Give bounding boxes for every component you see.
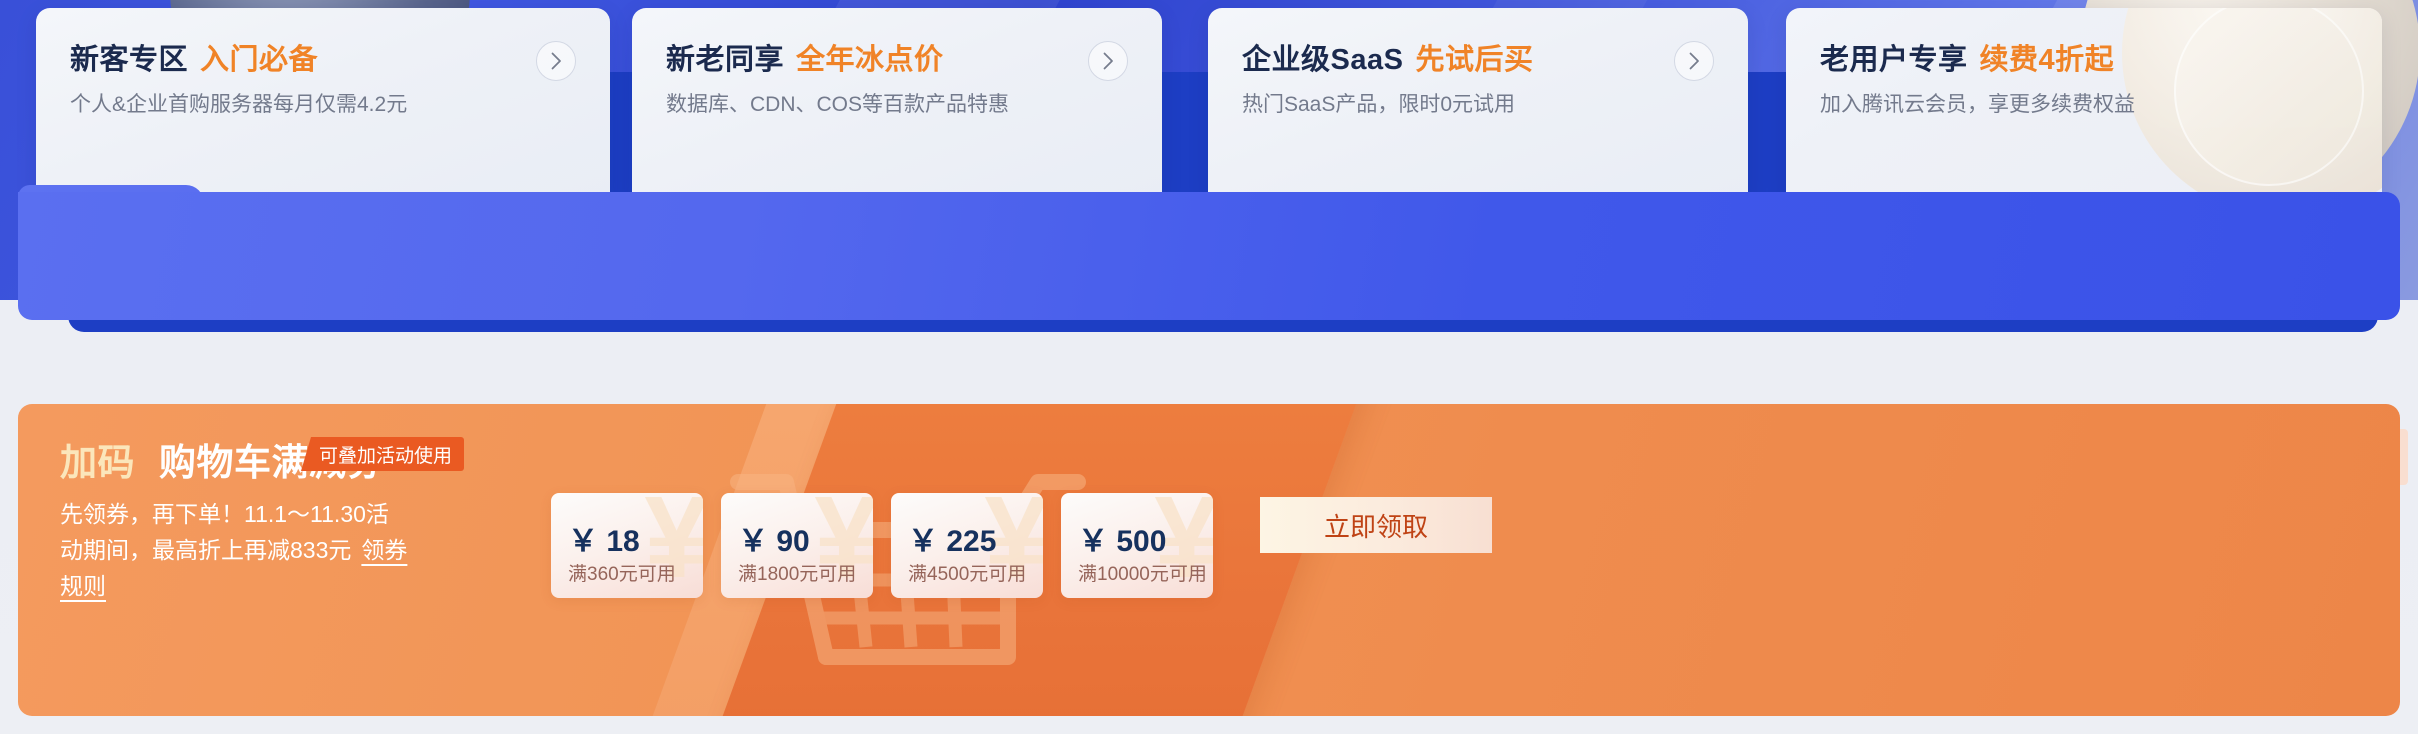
promo-card-row: 新客专区入门必备 个人&企业首购服务器每月仅需4.2元 新老同享全年冰点价 数据…: [0, 0, 2418, 200]
promo-card-highlight: 续费4折起: [1980, 44, 2115, 76]
promo-card-title: 新客专区入门必备: [70, 36, 318, 78]
promo-card-title: 老用户专享续费4折起: [1820, 36, 2114, 78]
promo-card-highlight: 入门必备: [200, 44, 318, 76]
coupon-amount: ￥ 500: [1078, 516, 1166, 560]
headline-gold: 加码: [60, 442, 135, 483]
chevron-right-icon[interactable]: [1674, 41, 1714, 81]
promo-card-highlight: 先试后买: [1415, 44, 1533, 76]
promo-card-title: 企业级SaaS先试后买: [1242, 36, 1533, 78]
coupon-amount: ￥ 90: [738, 516, 810, 560]
promo-card-subtitle: 加入腾讯云会员，享更多续费权益: [1820, 88, 2135, 118]
coupon-condition: 满10000元可用: [1078, 559, 1207, 586]
claim-button-label: 立即领取: [1324, 507, 1428, 544]
promo-card-all-users[interactable]: 新老同享全年冰点价 数据库、CDN、COS等百款产品特惠: [632, 8, 1162, 198]
claim-coupon-button[interactable]: 立即领取: [1260, 497, 1492, 553]
promo-card-highlight: 全年冰点价: [796, 44, 944, 76]
promo-card-new-customer[interactable]: 新客专区入门必备 个人&企业首购服务器每月仅需4.2元: [36, 8, 610, 198]
coupon-amount: ￥ 18: [568, 516, 640, 560]
chevron-right-icon[interactable]: [536, 41, 576, 81]
coupon-condition: 满1800元可用: [738, 559, 856, 586]
decorative-ring: [2122, 8, 2382, 198]
coupon-card[interactable]: ¥ ￥ 500 满10000元可用: [1061, 493, 1213, 598]
double-eleven-banner[interactable]: 玩转11.11 领 11111元 代金券大礼包，购后抽奖 100%中奖 ，开团冲…: [18, 192, 2400, 320]
cart-coupon-banner: 加码购物车满减券 可叠加活动使用 先领券，再下单！11.1～11.30活动期间，…: [18, 404, 2400, 716]
promo-card-subtitle: 个人&企业首购服务器每月仅需4.2元: [70, 88, 407, 118]
promo-card-saas[interactable]: 企业级SaaS先试后买 热门SaaS产品，限时0元试用: [1208, 8, 1748, 198]
coupon-card[interactable]: ¥ ￥ 18 满360元可用: [551, 493, 703, 598]
status-badge: 可叠加活动使用: [301, 437, 464, 471]
orange-banner-description: 先领券，再下单！11.1～11.30活动期间，最高折上再减833元领券规则: [60, 496, 410, 604]
coupon-card[interactable]: ¥ ￥ 225 满4500元可用: [891, 493, 1043, 598]
coupon-card[interactable]: ¥ ￥ 90 满1800元可用: [721, 493, 873, 598]
description-text: 先领券，再下单！11.1～11.30活动期间，最高折上再减833元: [60, 501, 389, 563]
coupon-condition: 满360元可用: [568, 559, 676, 586]
promo-card-title: 新老同享全年冰点价: [666, 36, 944, 78]
chevron-right-icon[interactable]: [1088, 41, 1128, 81]
coupon-condition: 满4500元可用: [908, 559, 1026, 586]
promo-card-subtitle: 热门SaaS产品，限时0元试用: [1242, 88, 1515, 118]
promo-card-subtitle: 数据库、CDN、COS等百款产品特惠: [666, 88, 1009, 118]
coupon-amount: ￥ 225: [908, 516, 996, 560]
promo-card-returning-user[interactable]: 老用户专享续费4折起 加入腾讯云会员，享更多续费权益: [1786, 8, 2382, 198]
